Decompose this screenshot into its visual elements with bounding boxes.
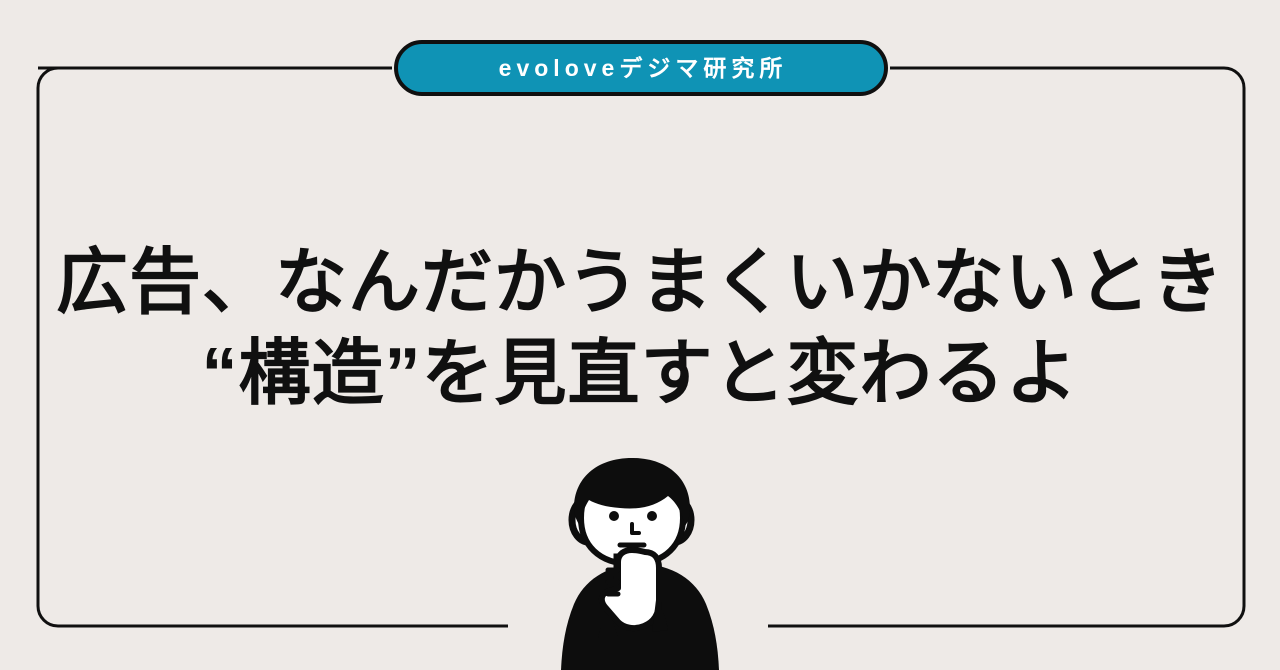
thinking-person-illustration — [548, 452, 732, 670]
headline-line-2: “構造”を見直すと変わるよ — [0, 329, 1280, 420]
brand-badge: evoloveデジマ研究所 — [394, 40, 888, 96]
headline-line-1: 広告、なんだかうまくいかないとき — [0, 238, 1280, 329]
right-eye — [647, 511, 657, 521]
page-title: 広告、なんだかうまくいかないとき “構造”を見直すと変わるよ — [0, 238, 1280, 419]
brand-badge-label: evoloveデジマ研究所 — [499, 57, 788, 80]
slide-canvas: evoloveデジマ研究所 広告、なんだかうまくいかないとき “構造”を見直すと… — [0, 0, 1280, 670]
left-eye — [609, 511, 619, 521]
